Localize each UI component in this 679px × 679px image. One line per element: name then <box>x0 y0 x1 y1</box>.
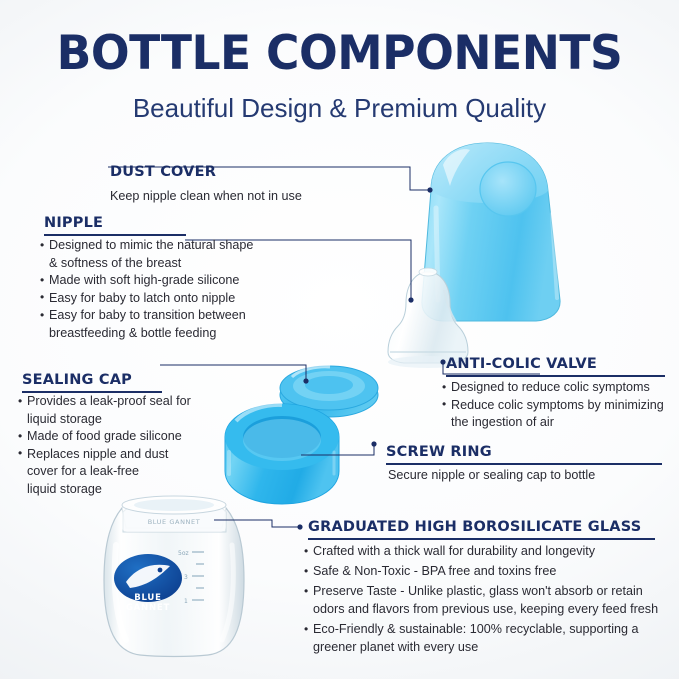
svg-text:BLUE GANNET: BLUE GANNET <box>148 518 201 526</box>
heading-anti-colic-valve-rule <box>446 375 665 377</box>
svg-text:5oz: 5oz <box>178 550 189 557</box>
heading-screw-ring-rule <box>386 463 662 465</box>
screw-ring-art <box>225 404 339 504</box>
heading-dust-cover-label: DUST COVER <box>110 164 216 180</box>
heading-glass-rule <box>308 538 655 540</box>
nipple-item-4: Easy for baby to transition between <box>40 307 290 324</box>
nipple-item-2: Made with soft high-grade silicone <box>40 272 290 289</box>
screw-ring-item-0: Secure nipple or sealing cap to bottle <box>388 467 668 484</box>
sealing-cap-item-5: liquid storage <box>18 481 228 498</box>
heading-screw-ring-label: SCREW RING <box>386 444 492 460</box>
sealing-cap-item-4: cover for a leak-free <box>18 463 228 480</box>
anti-colic-item-2: the ingestion of air <box>442 414 672 431</box>
svg-text:BLUE: BLUE <box>134 593 162 603</box>
heading-sealing-cap-label: SEALING CAP <box>22 372 132 388</box>
text-sealing-cap: Provides a leak-proof seal for liquid st… <box>18 393 228 498</box>
glass-item-4: Eco-Friendly & sustainable: 100% recycla… <box>304 620 674 639</box>
sealing-cap-item-2: Made of food grade silicone <box>18 428 228 445</box>
anti-colic-item-1: Reduce colic symptoms by minimizing <box>442 397 672 414</box>
infographic-page: 5oz 3 1 BLUE GANNET BLUE GANNET <box>0 0 679 679</box>
sealing-cap-item-3: Replaces nipple and dust <box>18 446 228 463</box>
svg-text:GANNET: GANNET <box>126 603 170 613</box>
text-screw-ring: Secure nipple or sealing cap to bottle <box>388 467 668 485</box>
page-subtitle: Beautiful Design & Premium Quality <box>0 93 679 124</box>
heading-nipple-label: NIPPLE <box>44 215 103 231</box>
heading-anti-colic-valve-label: ANTI-COLIC VALVE <box>446 356 597 372</box>
heading-nipple: NIPPLE <box>44 215 186 236</box>
nipple-item-1: & softness of the breast <box>40 255 290 272</box>
heading-anti-colic-valve: ANTI-COLIC VALVE <box>446 356 665 377</box>
heading-screw-ring: SCREW RING <box>386 444 662 465</box>
heading-glass-label: GRADUATED HIGH BOROSILICATE GLASS <box>308 519 641 535</box>
svg-text:3: 3 <box>184 574 188 581</box>
heading-nipple-rule <box>44 234 186 236</box>
text-glass: Crafted with a thick wall for durability… <box>304 542 674 658</box>
text-dust-cover: Keep nipple clean when not in use <box>110 188 410 206</box>
nipple-item-3: Easy for baby to latch onto nipple <box>40 290 290 307</box>
heading-sealing-cap: SEALING CAP <box>22 372 162 393</box>
text-nipple: Designed to mimic the natural shape & so… <box>40 237 290 342</box>
svg-text:1: 1 <box>184 598 188 605</box>
glass-item-2: Preserve Taste - Unlike plastic, glass w… <box>304 582 674 601</box>
glass-item-1: Safe & Non-Toxic - BPA free and toxins f… <box>304 562 674 581</box>
dust-cover-item-0: Keep nipple clean when not in use <box>110 188 410 205</box>
nipple-item-0: Designed to mimic the natural shape <box>40 237 290 254</box>
heading-glass: GRADUATED HIGH BOROSILICATE GLASS <box>308 519 655 540</box>
glass-item-3: odors and flavors from previous use, kee… <box>304 600 674 619</box>
glass-item-0: Crafted with a thick wall for durability… <box>304 542 674 561</box>
text-anti-colic-valve: Designed to reduce colic symptoms Reduce… <box>442 379 672 432</box>
heading-dust-cover: DUST COVER <box>110 164 410 180</box>
glass-item-5: greener planet with every use <box>304 638 674 657</box>
sealing-cap-item-0: Provides a leak-proof seal for <box>18 393 228 410</box>
sealing-cap-item-1: liquid storage <box>18 411 228 428</box>
anti-colic-item-0: Designed to reduce colic symptoms <box>442 379 672 396</box>
nipple-item-5: breastfeeding & bottle feeding <box>40 325 290 342</box>
page-title: BOTTLE COMPONENTS <box>10 26 669 81</box>
